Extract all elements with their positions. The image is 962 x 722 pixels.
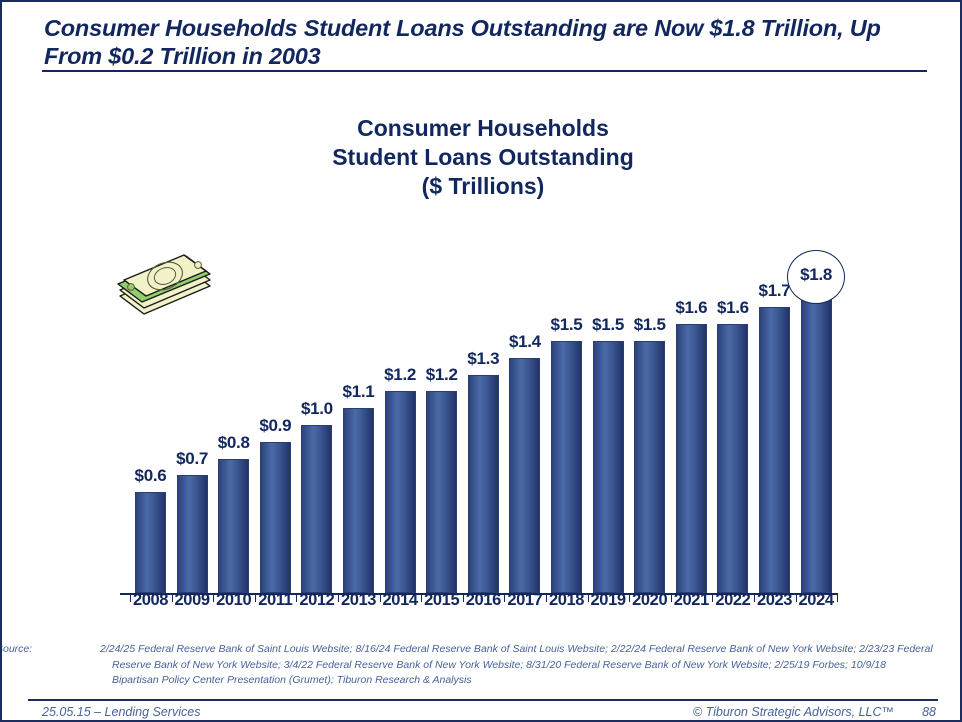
- bar-value-label: $1.8: [786, 265, 846, 285]
- title-divider: [42, 70, 927, 72]
- bar: [593, 341, 624, 593]
- chart-title-line-3: ($ Trillions): [2, 172, 962, 201]
- x-axis-tick: [172, 595, 173, 602]
- slide: Consumer Households Student Loans Outsta…: [0, 0, 962, 722]
- x-axis-tick: [796, 595, 797, 602]
- bar: [135, 492, 166, 593]
- source-label: Source:: [54, 642, 100, 658]
- x-axis-tick: [463, 595, 464, 602]
- x-axis-tick: [671, 595, 672, 602]
- page-title: Consumer Households Student Loans Outsta…: [44, 14, 924, 70]
- bar: [551, 341, 582, 593]
- bar: [634, 341, 665, 593]
- bar: [801, 291, 832, 593]
- x-axis-tick: [338, 595, 339, 602]
- chart-title-line-2: Student Loans Outstanding: [2, 143, 962, 172]
- x-axis-tick: [837, 595, 838, 602]
- bar: [218, 459, 249, 593]
- x-axis-tick: [255, 595, 256, 602]
- footer-divider: [28, 699, 938, 701]
- x-axis-tick: [130, 595, 131, 602]
- cash-stack-icon: [114, 240, 218, 328]
- x-axis-tick: [629, 595, 630, 602]
- x-axis-tick: [588, 595, 589, 602]
- x-axis-tick: [421, 595, 422, 602]
- x-axis-line: [120, 593, 838, 595]
- bar: [509, 358, 540, 593]
- bar: [759, 307, 790, 593]
- bar: [676, 324, 707, 593]
- x-axis-tick: [504, 595, 505, 602]
- footer-copyright: © Tiburon Strategic Advisors, LLC™: [693, 705, 894, 719]
- bar: [301, 425, 332, 593]
- x-axis-tick: [380, 595, 381, 602]
- source-text: 2/24/25 Federal Reserve Bank of Saint Lo…: [100, 643, 933, 686]
- chart-title-line-1: Consumer Households: [2, 114, 962, 143]
- x-axis-tick: [712, 595, 713, 602]
- bar: [468, 375, 499, 593]
- bar: [385, 391, 416, 593]
- bar: [260, 442, 291, 593]
- footer-left-text: 25.05.15 – Lending Services: [42, 705, 200, 719]
- x-axis-tick: [754, 595, 755, 602]
- bar: [343, 408, 374, 593]
- bar: [177, 475, 208, 593]
- source-note: Source:2/24/25 Federal Reserve Bank of S…: [54, 642, 934, 689]
- x-axis-tick: [296, 595, 297, 602]
- bar: [717, 324, 748, 593]
- bar: [426, 391, 457, 593]
- x-axis-tick: [213, 595, 214, 602]
- page-number: 88: [922, 705, 936, 719]
- chart-title: Consumer Households Student Loans Outsta…: [2, 114, 962, 201]
- x-axis-tick: [546, 595, 547, 602]
